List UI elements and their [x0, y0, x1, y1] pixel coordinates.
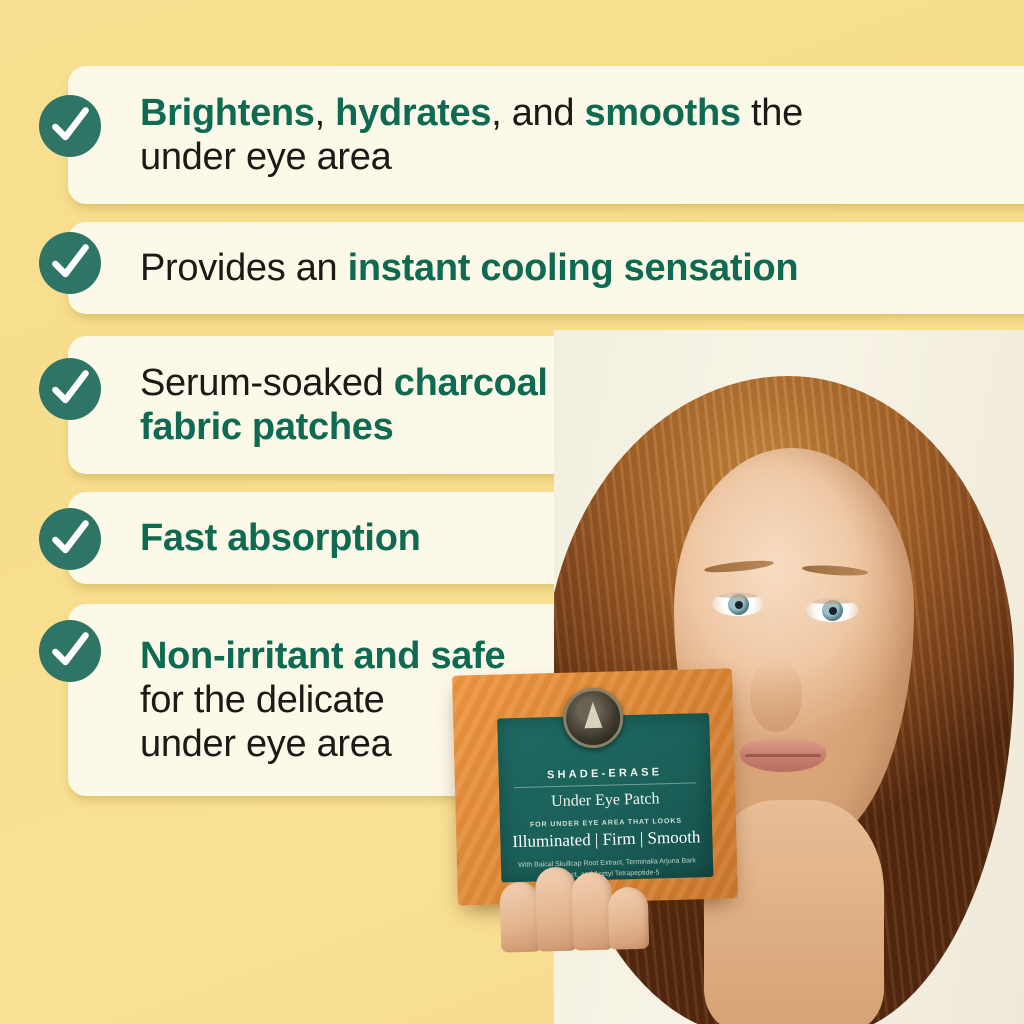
benefit-text-3: Serum-soaked charcoal fabric patches [140, 361, 548, 449]
check-circle-icon [39, 620, 101, 682]
benefit-emphasis: Brightens [140, 92, 315, 134]
benefit-plain: Provides an [140, 247, 348, 289]
hand [496, 839, 649, 953]
finger [535, 867, 577, 952]
check-circle-icon [39, 358, 101, 420]
pupil [735, 601, 743, 609]
benefit-line: for the delicate [140, 679, 384, 721]
seal-triangle-icon [584, 702, 603, 728]
nose [750, 660, 802, 732]
benefit-emphasis: Non-irritant and safe [140, 635, 505, 677]
finger [571, 872, 613, 951]
product-brand: SHADE-ERASE [499, 765, 711, 783]
benefit-text-2: Provides an instant cooling sensation [140, 246, 798, 290]
benefit-line: under eye area [140, 723, 391, 765]
eye-left [712, 592, 764, 616]
benefit-plain: , [315, 92, 336, 134]
benefit-emphasis: smooths [584, 92, 740, 134]
benefit-emphasis: fabric patches [140, 406, 393, 448]
eye-right [806, 598, 858, 622]
benefit-plain: , and [491, 92, 584, 134]
promo-image: Brightens, hydrates, and smooths the und… [0, 0, 1024, 1024]
benefit-emphasis: charcoal [394, 362, 548, 404]
benefit-plain: Serum-soaked [140, 362, 394, 404]
benefit-emphasis: hydrates [335, 92, 491, 134]
pupil [829, 607, 837, 615]
benefit-line: Brightens, hydrates, and smooths the [140, 92, 803, 134]
benefit-text-1: Brightens, hydrates, and smooths the und… [140, 91, 803, 179]
benefit-card-1: Brightens, hydrates, and smooths the und… [68, 66, 1024, 204]
benefit-card-2: Provides an instant cooling sensation [68, 222, 1024, 314]
check-circle-icon [39, 508, 101, 570]
benefit-plain: the [741, 92, 803, 134]
benefit-text-4: Fast absorption [140, 516, 421, 560]
eyelid [806, 598, 858, 604]
benefit-emphasis: instant cooling sensation [348, 247, 799, 289]
check-circle-icon [39, 232, 101, 294]
check-circle-icon [39, 95, 101, 157]
finger [608, 887, 650, 950]
benefit-emphasis: Fast absorption [140, 517, 421, 559]
benefit-line: under eye area [140, 136, 391, 178]
product-name: Under Eye Patch [499, 789, 711, 813]
lips [740, 738, 826, 772]
divider [514, 782, 696, 788]
product-box: SHADE-ERASE Under Eye Patch FOR UNDER EY… [452, 668, 738, 905]
eyelid [712, 592, 764, 598]
benefit-text-5: Non-irritant and safe for the delicate u… [140, 634, 505, 766]
